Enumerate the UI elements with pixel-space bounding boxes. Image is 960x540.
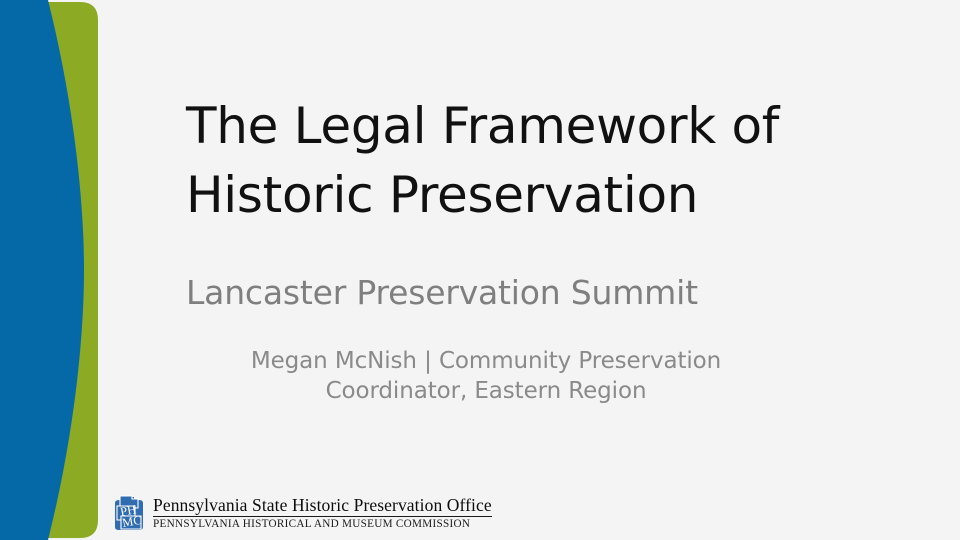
page-title: The Legal Framework of Historic Preserva… <box>186 92 806 230</box>
logo-divider <box>153 516 492 517</box>
presentation-title-slide: The Legal Framework of Historic Preserva… <box>0 0 960 540</box>
title-container: The Legal Framework of Historic Preserva… <box>186 92 806 230</box>
presenter-credit: Megan McNish | Community Preservation Co… <box>186 346 786 407</box>
decorative-left-band <box>0 0 110 540</box>
subtitle-container: Lancaster Preservation Summit <box>186 272 806 315</box>
phmc-keystone-logo: PH MC <box>112 494 146 532</box>
logo-primary-text: Pennsylvania State Historic Preservation… <box>153 496 492 515</box>
slide-subtitle: Lancaster Preservation Summit <box>186 272 806 315</box>
presenter-container: Megan McNish | Community Preservation Co… <box>186 346 786 407</box>
organization-logo-lockup: PH MC Pennsylvania State Historic Preser… <box>112 494 492 532</box>
logo-secondary-text: PENNSYLVANIA HISTORICAL AND MUSEUM COMMI… <box>153 518 492 530</box>
logo-text-block: Pennsylvania State Historic Preservation… <box>153 496 492 530</box>
